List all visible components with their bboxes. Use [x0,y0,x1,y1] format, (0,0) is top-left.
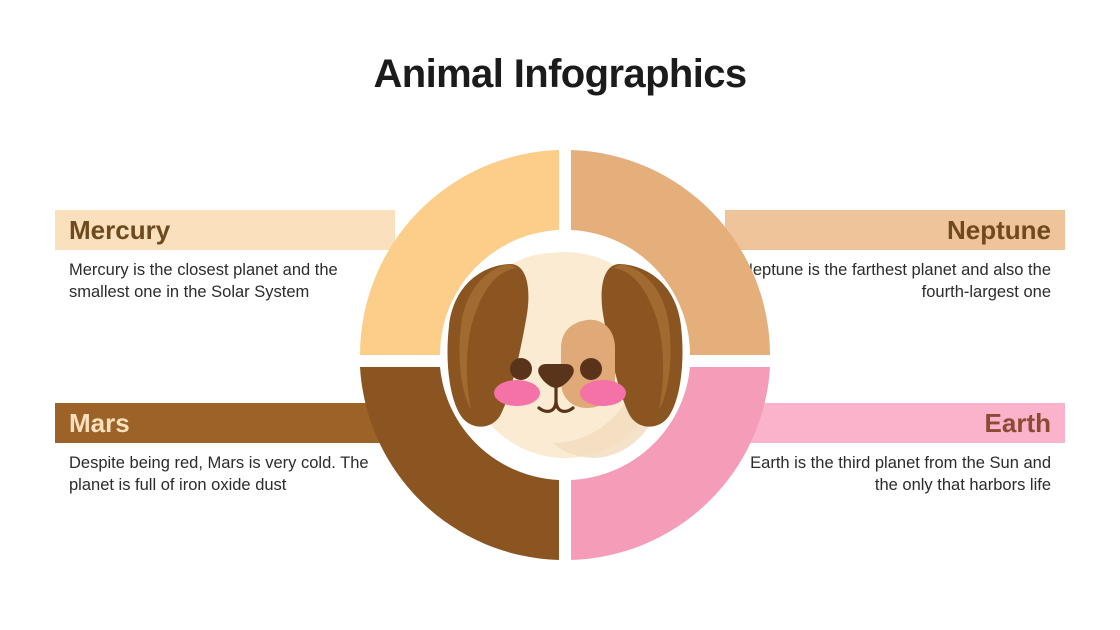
infographic-slide: Animal Infographics Mercury Mercury is t… [0,0,1120,630]
label-band-mars: Mars [55,403,395,443]
dog-eye-right [580,358,602,380]
label-earth: Earth [985,410,1051,436]
dog-blush-right [580,380,626,406]
info-block-mars: Mars Despite being red, Mars is very col… [55,403,395,496]
dog-eye-left [510,358,532,380]
page-title: Animal Infographics [0,52,1120,97]
dog-face-icon [435,230,695,480]
donut-chart [355,145,775,565]
info-block-earth: Earth Earth is the third planet from the… [725,403,1065,496]
label-neptune: Neptune [947,217,1051,243]
info-block-mercury: Mercury Mercury is the closest planet an… [55,210,395,303]
dog-blush-left [494,380,540,406]
label-band-earth: Earth [725,403,1065,443]
description-neptune: Neptune is the farthest planet and also … [725,260,1065,303]
label-band-neptune: Neptune [725,210,1065,250]
description-mars: Despite being red, Mars is very cold. Th… [55,453,395,496]
label-mars: Mars [69,410,130,436]
description-earth: Earth is the third planet from the Sun a… [725,453,1065,496]
label-band-mercury: Mercury [55,210,395,250]
description-mercury: Mercury is the closest planet and the sm… [55,260,395,303]
info-block-neptune: Neptune Neptune is the farthest planet a… [725,210,1065,303]
label-mercury: Mercury [69,217,170,243]
